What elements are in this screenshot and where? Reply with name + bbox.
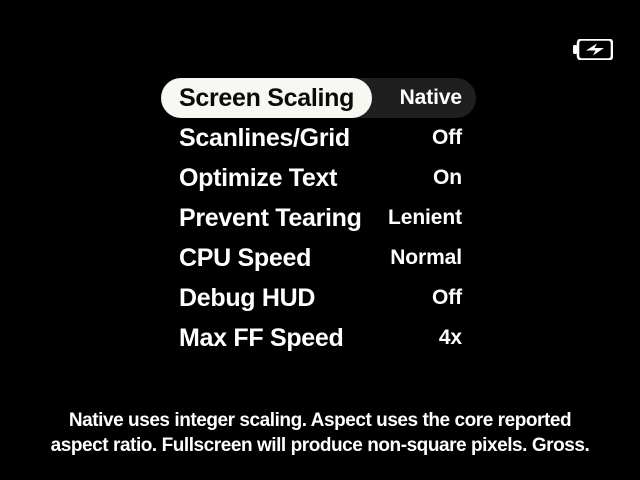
- menu-item-value[interactable]: Native: [400, 78, 462, 118]
- settings-menu-list[interactable]: Screen Scaling Native Scanlines/Grid Off…: [0, 78, 640, 358]
- menu-item-screen-scaling[interactable]: Screen Scaling Native: [0, 78, 640, 118]
- menu-item-max-ff-speed[interactable]: Max FF Speed 4x: [0, 318, 640, 358]
- menu-item-value[interactable]: Normal: [390, 238, 462, 278]
- row-label-pill: Screen Scaling: [161, 78, 372, 118]
- row-label-pill: Scanlines/Grid: [161, 118, 368, 158]
- menu-item-value[interactable]: Lenient: [388, 198, 462, 238]
- row-label-pill: Max FF Speed: [161, 318, 362, 358]
- footer-help-text: Native uses integer scaling. Aspect uses…: [0, 408, 640, 458]
- menu-item-value[interactable]: On: [433, 158, 462, 198]
- footer-help-line-2: aspect ratio. Fullscreen will produce no…: [16, 433, 624, 458]
- menu-item-value[interactable]: Off: [432, 118, 462, 158]
- menu-item-cpu-speed[interactable]: CPU Speed Normal: [0, 238, 640, 278]
- menu-item-prevent-tearing[interactable]: Prevent Tearing Lenient: [0, 198, 640, 238]
- menu-item-label: Scanlines/Grid: [179, 118, 350, 158]
- menu-item-label: CPU Speed: [179, 238, 311, 278]
- menu-item-optimize-text[interactable]: Optimize Text On: [0, 158, 640, 198]
- footer-help-line-1: Native uses integer scaling. Aspect uses…: [16, 408, 624, 433]
- menu-item-label: Max FF Speed: [179, 318, 344, 358]
- menu-item-label: Optimize Text: [179, 158, 337, 198]
- row-label-pill: Debug HUD: [161, 278, 333, 318]
- menu-item-debug-hud[interactable]: Debug HUD Off: [0, 278, 640, 318]
- menu-item-label: Prevent Tearing: [179, 198, 362, 238]
- menu-item-value[interactable]: 4x: [439, 318, 462, 358]
- settings-screen: Screen Scaling Native Scanlines/Grid Off…: [0, 0, 640, 480]
- menu-item-value[interactable]: Off: [432, 278, 462, 318]
- row-label-pill: Optimize Text: [161, 158, 355, 198]
- battery-charging-icon: [573, 39, 613, 60]
- menu-item-label: Debug HUD: [179, 278, 315, 318]
- menu-item-scanlines-grid[interactable]: Scanlines/Grid Off: [0, 118, 640, 158]
- row-label-pill: Prevent Tearing: [161, 198, 380, 238]
- status-bar: [0, 0, 640, 76]
- row-label-pill: CPU Speed: [161, 238, 329, 278]
- menu-item-label: Screen Scaling: [179, 78, 354, 118]
